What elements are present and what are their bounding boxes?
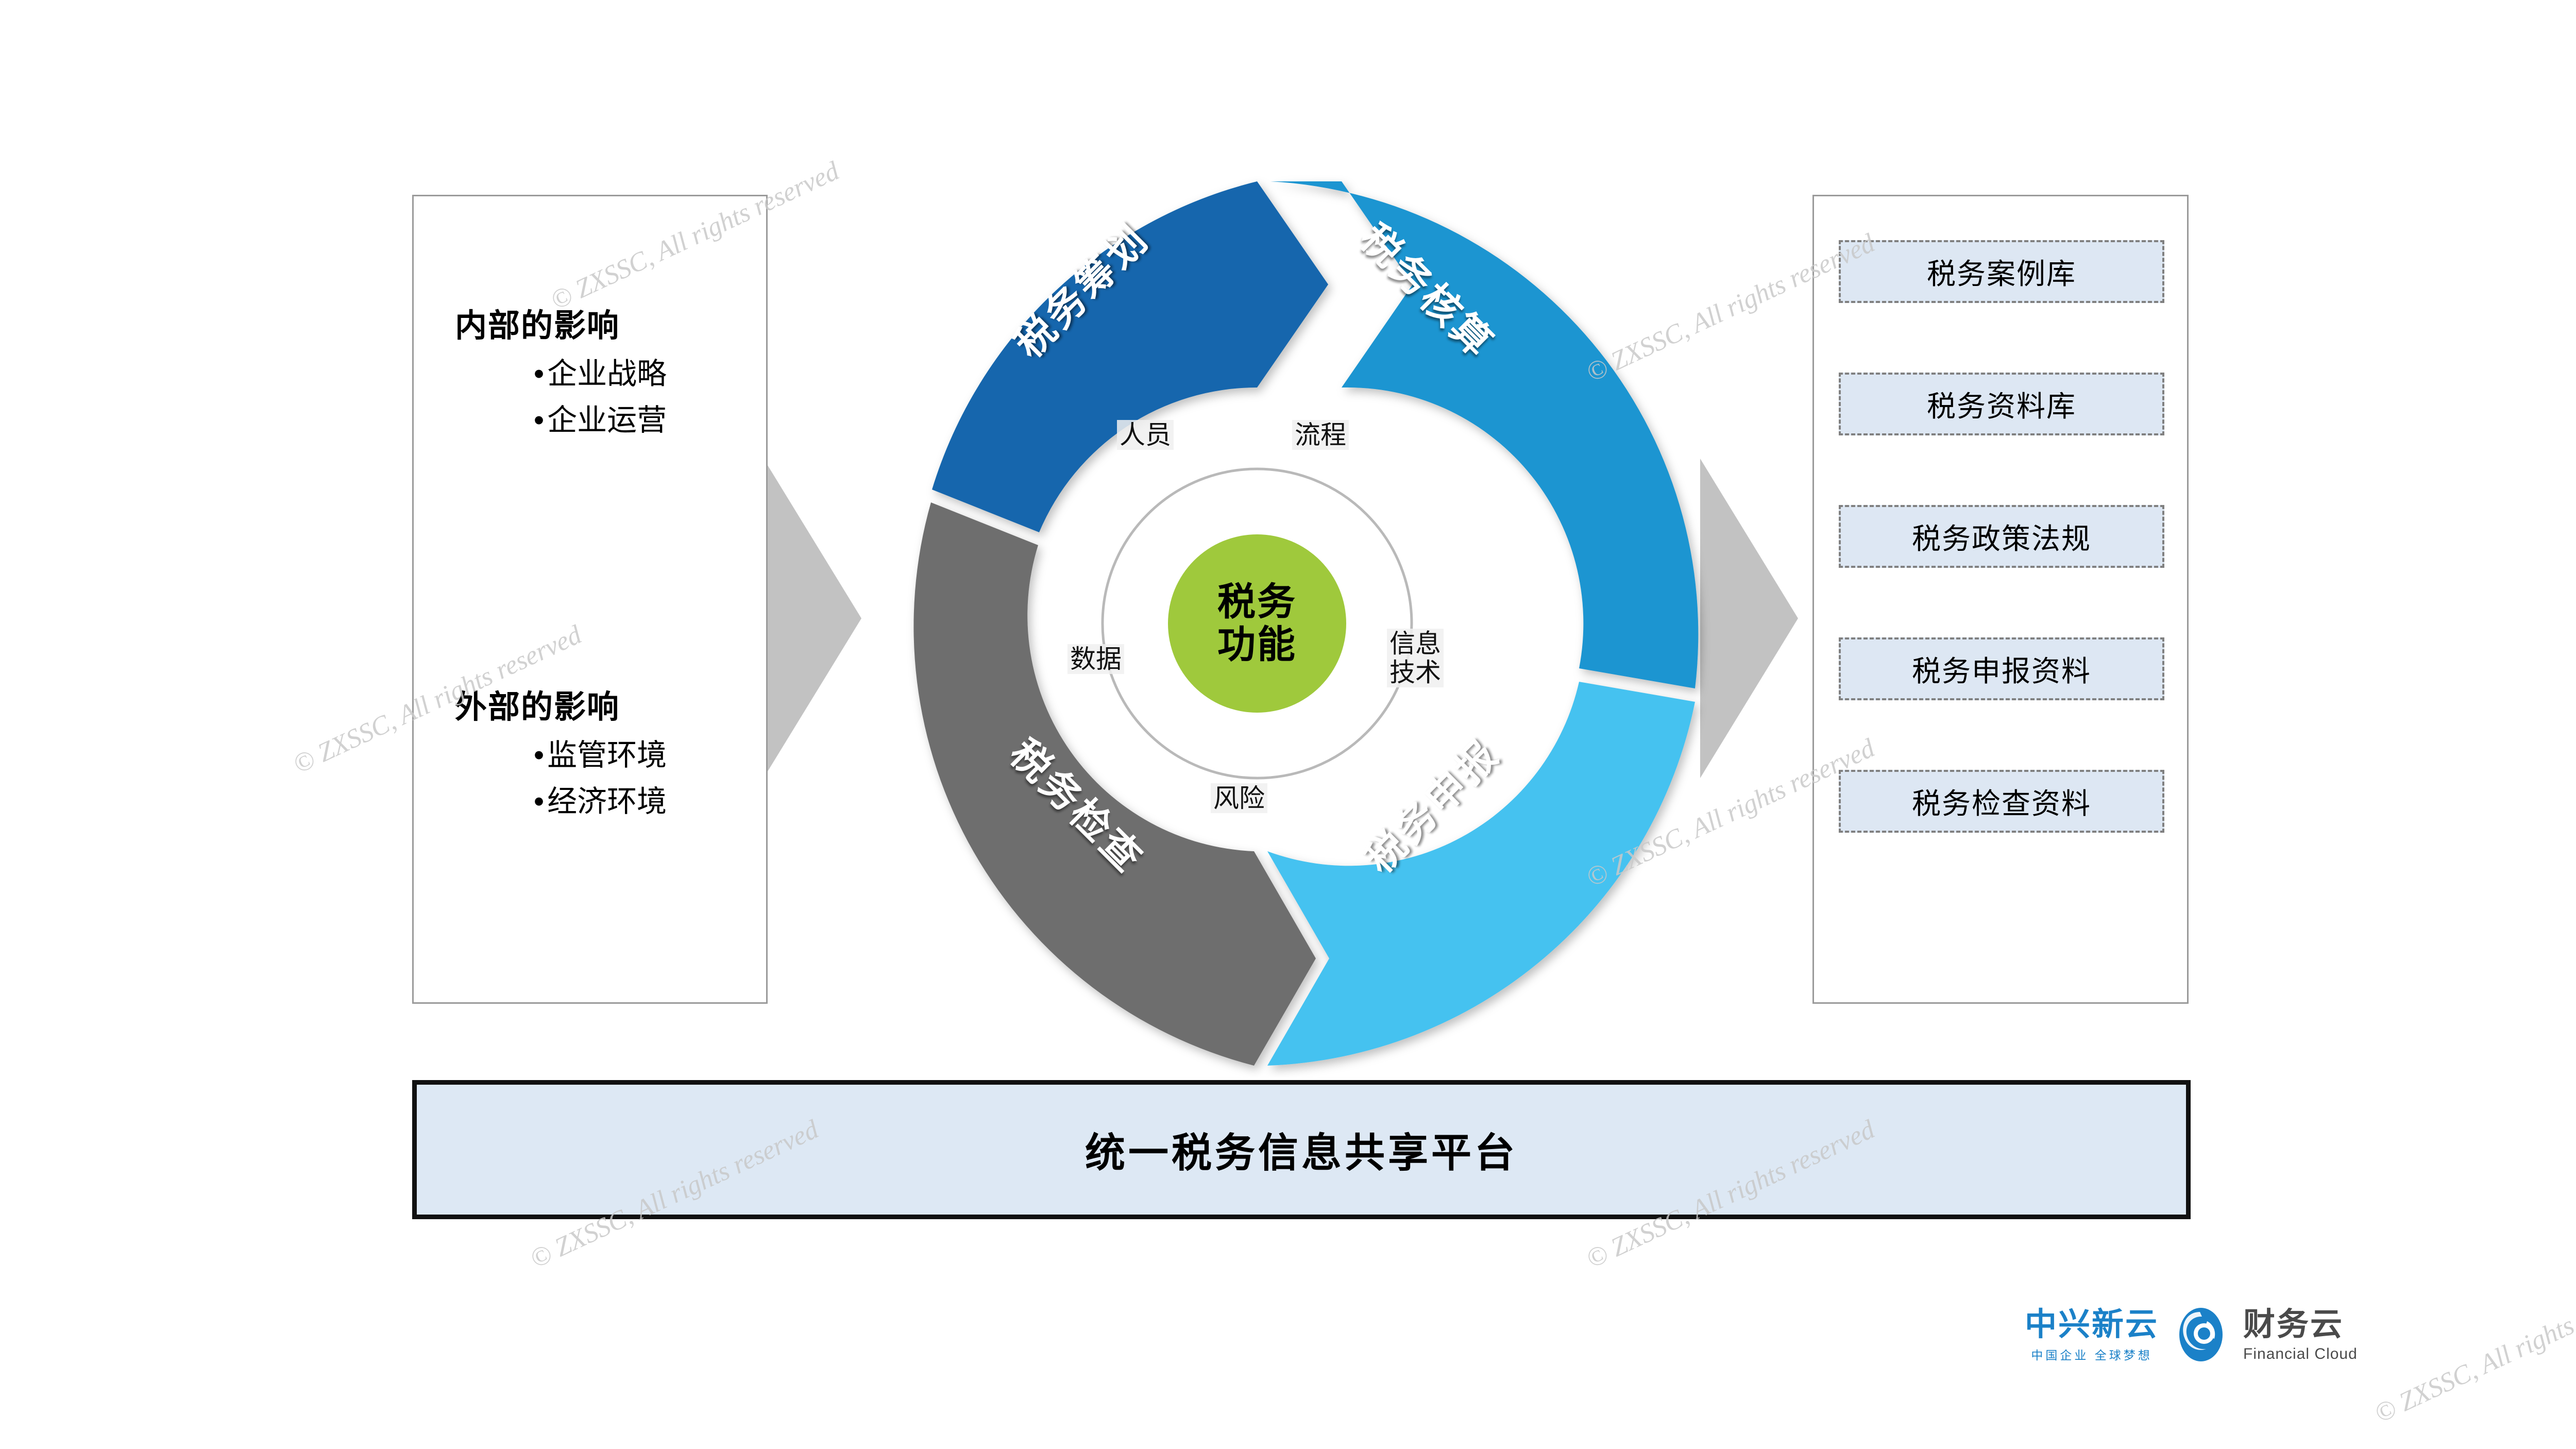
core-tax-function-circle[interactable]: 税务 功能 [1168, 534, 1346, 713]
list-item: 企业运营 [414, 397, 766, 444]
list-item[interactable]: 税务申报资料 [1839, 637, 2164, 700]
right-arrow-icon [1695, 453, 1798, 783]
internal-influence-heading: 内部的影响 [455, 299, 620, 346]
list-item: 企业战略 [414, 351, 766, 397]
cloud-swirl-icon [2170, 1304, 2232, 1368]
ring-label-risk: 风险 [1211, 783, 1267, 813]
ring-label-process: 流程 [1292, 420, 1349, 450]
list-item[interactable]: 税务案例库 [1839, 240, 2164, 303]
tax-repository-panel: 税务案例库 税务资料库 税务政策法规 税务申报资料 税务检查资料 [1812, 195, 2189, 1004]
list-item[interactable]: 税务检查资料 [1839, 770, 2164, 833]
list-item: 监管环境 [414, 732, 766, 779]
unified-tax-platform-bar: 统一税务信息共享平台 [412, 1080, 2191, 1219]
core-label-line1: 税务 [1217, 580, 1297, 623]
company-logo: 中兴新云 中国企业 全球梦想 财务云 Financial Cloud [2025, 1304, 2358, 1368]
brand-lockup: 中兴新云 中国企业 全球梦想 [2025, 1309, 2159, 1363]
core-label-line2: 功能 [1217, 623, 1297, 666]
watermark: © ZXSSC, All rights reserved [2370, 1269, 2576, 1429]
tax-function-donut-diagram: 税务筹划 税务核算 税务申报 税务检查 人员 流程 数据 信息 技术 风险 税务… [804, 170, 1710, 1077]
product-name: 财务云 [2243, 1309, 2344, 1341]
unified-tax-platform-label: 统一税务信息共享平台 [1085, 1121, 1518, 1178]
brand-tagline: 中国企业 全球梦想 [2031, 1345, 2152, 1363]
list-item[interactable]: 税务政策法规 [1839, 505, 2164, 568]
product-name-en: Financial Cloud [2243, 1345, 2358, 1363]
external-influence-list: 监管环境 经济环境 [414, 732, 766, 825]
ring-label-people: 人员 [1117, 420, 1174, 450]
brand-name: 中兴新云 [2025, 1309, 2159, 1341]
internal-influence-list: 企业战略 企业运营 [414, 351, 766, 444]
list-item[interactable]: 税务资料库 [1839, 373, 2164, 435]
ring-label-it-line2: 技术 [1389, 658, 1441, 687]
internal-external-influence-panel: 内部的影响 企业战略 企业运营 外部的影响 监管环境 经济环境 [412, 195, 768, 1004]
product-lockup: 财务云 Financial Cloud [2243, 1309, 2358, 1363]
list-item: 经济环境 [414, 779, 766, 825]
ring-label-it: 信息 技术 [1387, 629, 1444, 687]
ring-label-it-line1: 信息 [1389, 629, 1441, 658]
external-influence-heading: 外部的影响 [455, 681, 620, 727]
ring-label-data: 数据 [1067, 644, 1124, 674]
